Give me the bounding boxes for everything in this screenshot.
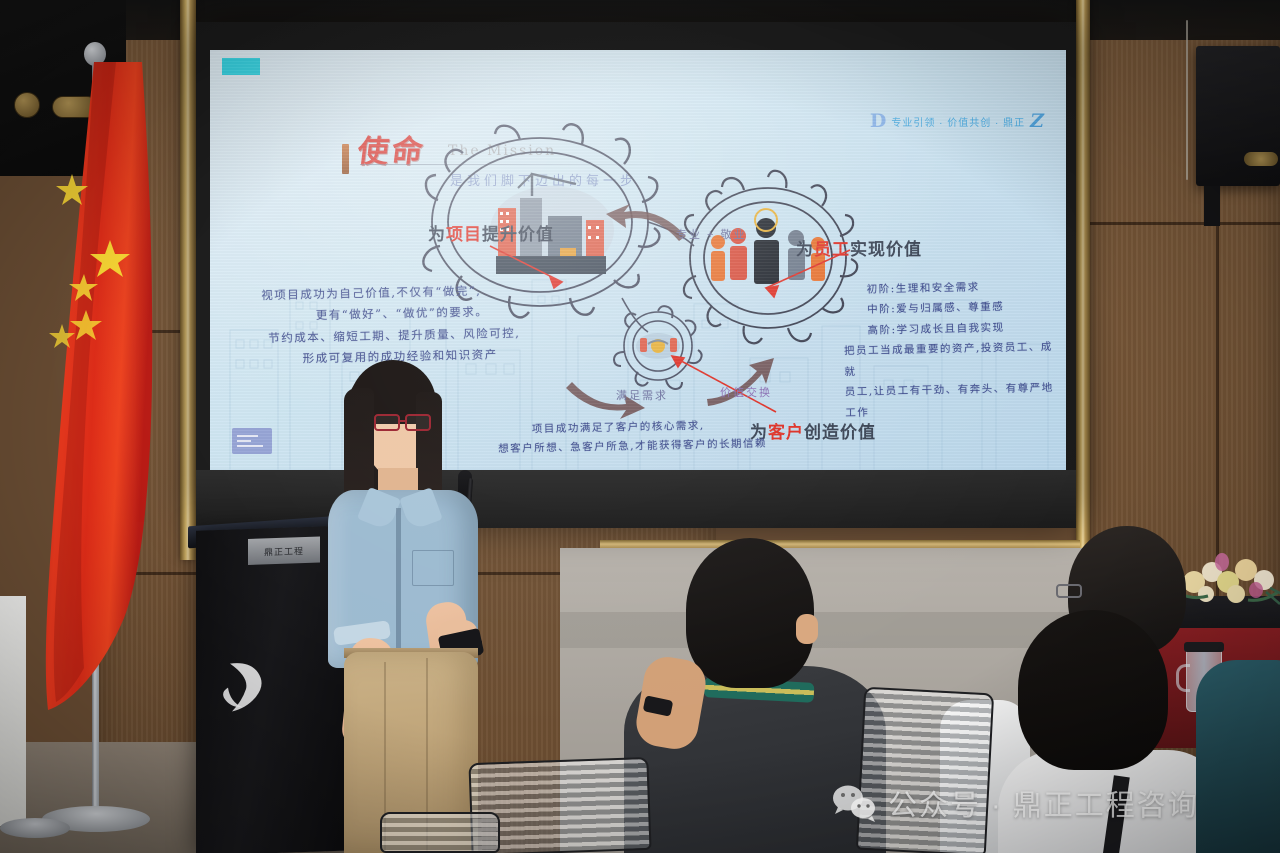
gold-trim-right	[1076, 0, 1090, 600]
audience-member-far-right	[1196, 660, 1280, 853]
badge-line	[237, 445, 263, 447]
badge-line	[237, 435, 258, 437]
callout-suffix: 创造价值	[804, 423, 876, 442]
shirt-placket	[396, 508, 401, 658]
gear-label-professional: 专业 + 敬业	[676, 226, 747, 242]
glasses-lens-right	[405, 414, 431, 431]
flag-base-secondary	[0, 818, 70, 838]
chair	[856, 687, 994, 853]
callout-highlight: 员工	[814, 240, 850, 259]
audience-glasses-icon	[1056, 584, 1082, 598]
callout-prefix: 为	[428, 225, 446, 244]
callout-prefix: 为	[796, 240, 814, 259]
handshake-coin-icon	[636, 333, 680, 359]
callout-suffix: 实现价值	[850, 240, 922, 259]
callout-project: 为项目提升价值	[428, 220, 554, 245]
handwritten-line: 把员工当成最重要的资产,投资员工、成就	[844, 337, 1063, 382]
chinese-flag-icon	[42, 62, 202, 762]
handwritten-line: 员工,让员工有干劲、有奔头、有尊严地工作	[845, 378, 1064, 423]
conference-photo: 使命 The Mission 是我们脚下迈出的每一步 D 专业引领 · 价值共创…	[0, 0, 1280, 853]
panel-seam	[1076, 222, 1280, 225]
speaker-badge	[1244, 152, 1278, 166]
glasses-lens-left	[374, 414, 400, 431]
handwritten-staff-block: 初阶:生理和安全需求 中阶:爱与归属感、尊重感 高阶:学习成长且自我实现 把员工…	[843, 276, 1064, 424]
shirt-pocket	[412, 550, 454, 586]
gear-label-satisfy-need: 满足需求	[616, 387, 668, 403]
callout-suffix: 提升价值	[482, 225, 554, 244]
badge-line	[237, 440, 251, 442]
callout-staff: 为员工实现价值	[796, 235, 922, 260]
chair	[380, 812, 500, 853]
slide-page-badge	[232, 428, 272, 454]
audience-ear	[796, 614, 818, 644]
audience-member-right-b	[1004, 600, 1224, 853]
gear-label-value-exchange: 价值交换	[720, 384, 772, 400]
speaker-cable	[1186, 20, 1188, 180]
wall-plaque	[14, 92, 40, 118]
white-banner	[0, 596, 26, 826]
callout-highlight: 项目	[446, 225, 482, 244]
speaker-bracket	[1204, 186, 1220, 226]
audience-head	[1018, 610, 1168, 770]
audience-head	[686, 538, 814, 688]
dingzheng-logo-icon	[222, 656, 268, 714]
handwritten-client-block: 项目成功满足了客户的核心需求, 想客户所想、急客户所急,才能获得客户的长期信赖	[498, 415, 799, 460]
red-frame-glasses-icon	[374, 414, 436, 432]
